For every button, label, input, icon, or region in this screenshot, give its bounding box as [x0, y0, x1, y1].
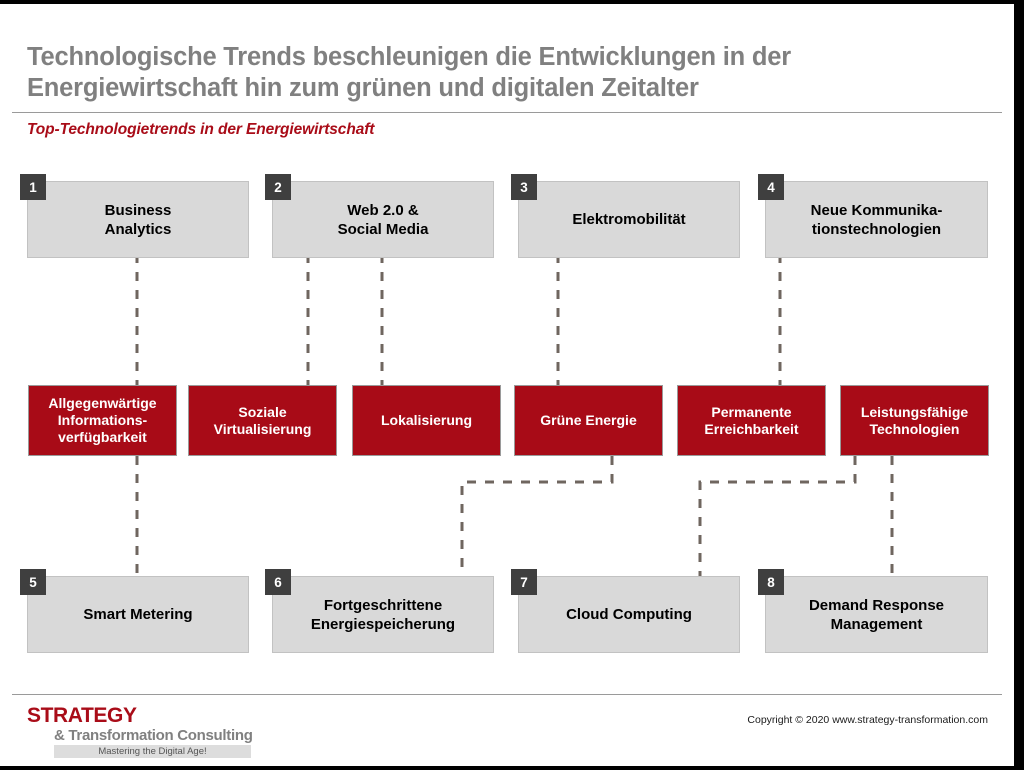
trend-box-8-label: Demand Response Management	[803, 596, 950, 634]
trend-box-4[interactable]: 4 Neue Kommunika- tionstechnologien	[765, 181, 988, 258]
badge-number-1: 1	[20, 174, 46, 200]
trend-box-2-label: Web 2.0 & Social Media	[332, 201, 435, 239]
driver-box-2-label: Soziale Virtualisierung	[208, 404, 318, 438]
badge-number-5: 5	[20, 569, 46, 595]
driver-box-gruene-energie[interactable]: Grüne Energie	[514, 385, 663, 456]
connector-gruene-to-6	[462, 456, 612, 576]
trend-box-4-label: Neue Kommunika- tionstechnologien	[805, 201, 949, 239]
footer-divider	[12, 694, 1002, 695]
badge-number-2: 2	[265, 174, 291, 200]
trend-box-3[interactable]: 3 Elektromobilität	[518, 181, 740, 258]
badge-number-8: 8	[758, 569, 784, 595]
trend-box-7[interactable]: 7 Cloud Computing	[518, 576, 740, 653]
trend-box-7-label: Cloud Computing	[560, 605, 698, 624]
trend-box-5-label: Smart Metering	[77, 605, 198, 624]
copyright-text: Copyright © 2020 www.strategy-transforma…	[600, 714, 988, 726]
driver-box-4-label: Grüne Energie	[534, 412, 642, 429]
driver-box-5-label: Permanente Erreichbarkeit	[698, 404, 804, 438]
driver-box-lokalisierung[interactable]: Lokalisierung	[352, 385, 501, 456]
badge-number-7: 7	[511, 569, 537, 595]
trend-box-3-label: Elektromobilität	[566, 210, 691, 229]
driver-box-allgegenwaertige-informationsverfuegbarkeit[interactable]: Allgegenwärtige Informations- verfügbark…	[28, 385, 177, 456]
driver-box-leistungsfaehige-technologien[interactable]: Leistungsfähige Technologien	[840, 385, 989, 456]
company-logo: STRATEGY & Transformation Consulting Mas…	[27, 705, 287, 758]
badge-number-3: 3	[511, 174, 537, 200]
driver-box-soziale-virtualisierung[interactable]: Soziale Virtualisierung	[188, 385, 337, 456]
driver-box-3-label: Lokalisierung	[375, 412, 478, 429]
logo-strategy-text: STRATEGY	[27, 705, 287, 727]
trend-box-1[interactable]: 1 Business Analytics	[27, 181, 249, 258]
trend-box-1-label: Business Analytics	[99, 201, 178, 239]
badge-number-6: 6	[265, 569, 291, 595]
logo-tagline: Mastering the Digital Age!	[54, 745, 251, 758]
trend-box-2[interactable]: 2 Web 2.0 & Social Media	[272, 181, 494, 258]
badge-number-4: 4	[758, 174, 784, 200]
driver-box-permanente-erreichbarkeit[interactable]: Permanente Erreichbarkeit	[677, 385, 826, 456]
driver-box-1-label: Allgegenwärtige Informations- verfügbark…	[42, 395, 162, 446]
connector-leistung-to-7	[700, 456, 855, 576]
logo-transformation-text: & Transformation Consulting	[27, 727, 287, 744]
trend-box-6[interactable]: 6 Fortgeschrittene Energiespeicherung	[272, 576, 494, 653]
trend-box-6-label: Fortgeschrittene Energiespeicherung	[305, 596, 461, 634]
trend-box-8[interactable]: 8 Demand Response Management	[765, 576, 988, 653]
trend-box-5[interactable]: 5 Smart Metering	[27, 576, 249, 653]
driver-box-6-label: Leistungsfähige Technologien	[855, 404, 974, 438]
slide-canvas: Technologische Trends beschleunigen die …	[0, 4, 1014, 766]
